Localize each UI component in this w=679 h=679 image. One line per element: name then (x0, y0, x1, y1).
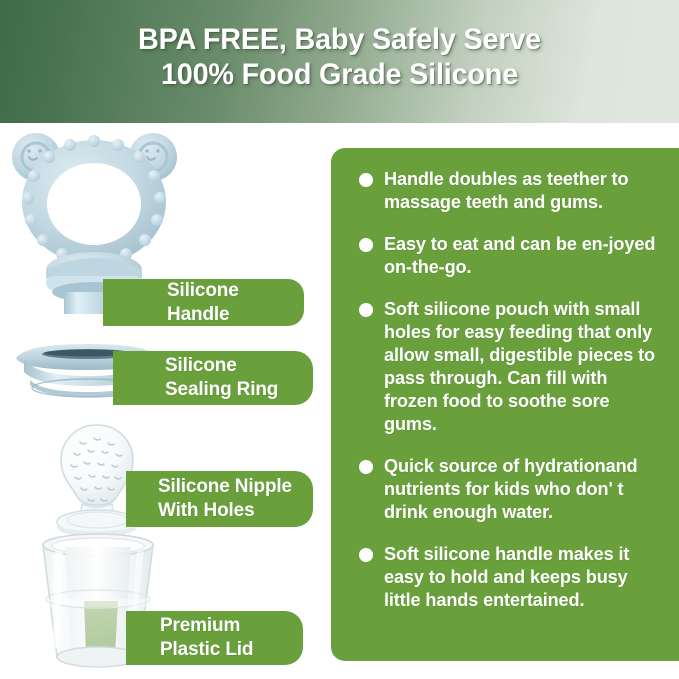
callout-sealing-ring-line-1: Silicone (165, 354, 313, 378)
feature-item: Quick source of hydrationand nutrients f… (347, 455, 661, 524)
feature-item: Handle doubles as teether to massage tee… (347, 168, 661, 214)
callout-tag-silicone-handle: Silicone Handle (103, 279, 304, 326)
page-title-line-2: 100% Food Grade Silicone (14, 57, 666, 92)
bullet-icon (359, 460, 373, 474)
page-title-line-1: BPA FREE, Baby Safely Serve (14, 22, 666, 57)
callout-handle-line-1: Silicone (167, 279, 304, 303)
feature-item: Soft silicone pouch with small holes for… (347, 298, 661, 436)
callout-tag-silicone-nipple-with-holes: Silicone Nipple With Holes (126, 471, 313, 527)
callout-sealing-ring-line-2: Sealing Ring (165, 378, 313, 402)
feature-text: Soft silicone handle makes it easy to ho… (384, 544, 629, 610)
callout-lid-line-2: Plastic Lid (160, 638, 303, 662)
bullet-icon (359, 173, 373, 187)
feature-text: Easy to eat and can be en-joyed on-the-g… (384, 234, 655, 277)
header-banner: BPA FREE, Baby Safely Serve 100% Food Gr… (0, 0, 679, 123)
features-panel: Handle doubles as teether to massage tee… (331, 148, 679, 661)
callout-nipple-line-1: Silicone Nipple (158, 475, 313, 499)
infographic-page: BPA FREE, Baby Safely Serve 100% Food Gr… (0, 0, 679, 679)
feature-text: Soft silicone pouch with small holes for… (384, 299, 655, 434)
feature-text: Quick source of hydrationand nutrients f… (384, 456, 638, 522)
feature-text: Handle doubles as teether to massage tee… (384, 169, 628, 212)
feature-item: Soft silicone handle makes it easy to ho… (347, 543, 661, 612)
page-title: BPA FREE, Baby Safely Serve 100% Food Gr… (14, 22, 666, 92)
callout-nipple-line-2: With Holes (158, 499, 313, 523)
callout-handle-line-2: Handle (167, 303, 304, 327)
callout-tag-silicone-sealing-ring: Silicone Sealing Ring (113, 351, 313, 405)
bullet-icon (359, 548, 373, 562)
callout-tag-premium-plastic-lid: Premium Plastic Lid (126, 611, 303, 665)
bullet-icon (359, 238, 373, 252)
callout-lid-line-1: Premium (160, 614, 303, 638)
feature-item: Easy to eat and can be en-joyed on-the-g… (347, 233, 661, 279)
bullet-icon (359, 303, 373, 317)
